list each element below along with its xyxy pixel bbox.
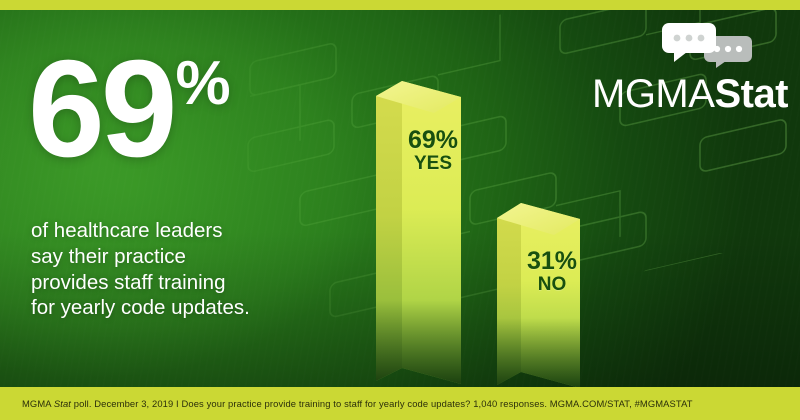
bar-no-base-shadow xyxy=(497,318,580,388)
bar-no-percent: 31% xyxy=(518,248,586,274)
footer-prefix: MGMA xyxy=(22,398,54,409)
footer-source-text: MGMA Stat poll. December 3, 2019 I Does … xyxy=(0,398,693,409)
bar-no-label: 31% NO xyxy=(518,248,586,296)
footer-rest: poll. December 3, 2019 I Does your pract… xyxy=(71,398,693,409)
footer-italic-stat: Stat xyxy=(54,398,71,409)
footer-bar: MGMA Stat poll. December 3, 2019 I Does … xyxy=(0,387,800,420)
bar-no-answer: NO xyxy=(518,274,586,296)
bar-yes-base-shadow xyxy=(376,300,461,384)
bar-yes-answer: YES xyxy=(398,153,468,175)
bar-yes-percent: 69% xyxy=(398,127,468,153)
infographic-poster: 69% of healthcare leaders say their prac… xyxy=(0,0,800,420)
bar-chart xyxy=(0,0,800,420)
bar-yes-label: 69% YES xyxy=(398,127,468,175)
